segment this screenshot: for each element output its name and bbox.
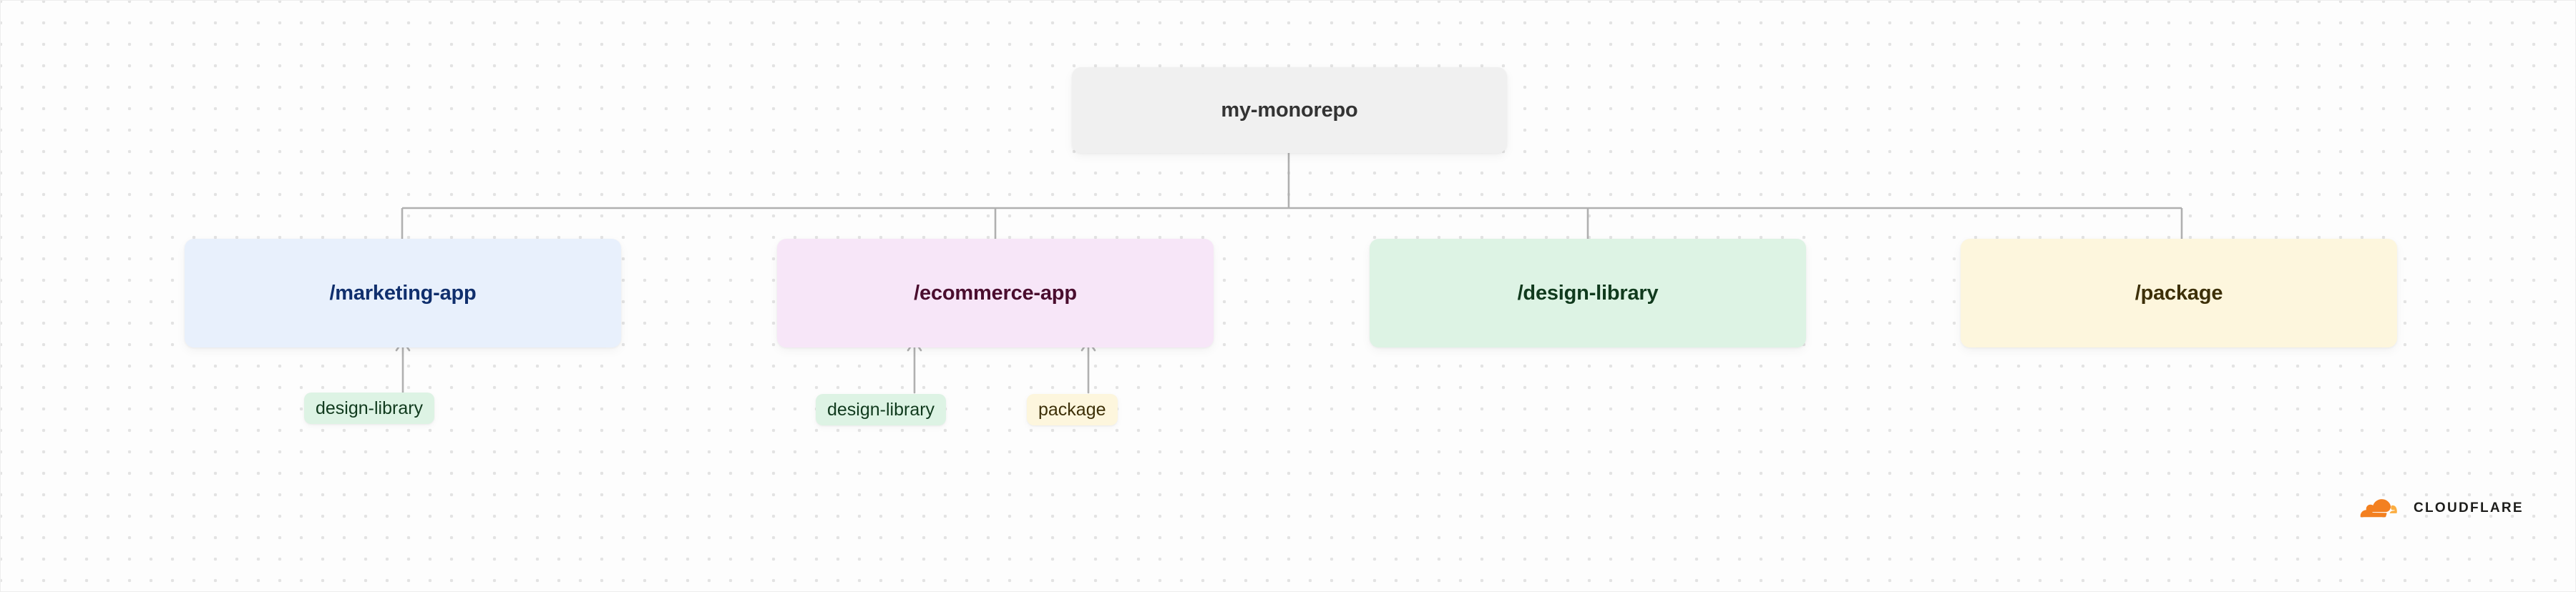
cloudflare-logo: CLOUDFLARE — [2352, 494, 2524, 522]
dependency-pill-label: design-library — [827, 400, 935, 420]
dependency-pill-ecommerce-design-library[interactable]: design-library — [816, 394, 946, 425]
node-label-ecommerce-app: /ecommerce-app — [914, 282, 1077, 305]
node-package[interactable]: /package — [1961, 239, 2397, 347]
node-marketing-app[interactable]: /marketing-app — [185, 239, 621, 347]
dependency-pill-label: design-library — [316, 398, 423, 419]
node-label-design-library: /design-library — [1518, 282, 1659, 305]
dependency-pill-label: package — [1038, 400, 1106, 420]
node-my-monorepo[interactable]: my-monorepo — [1072, 67, 1507, 153]
node-label-marketing-app: /marketing-app — [329, 282, 476, 305]
node-label-my-monorepo: my-monorepo — [1221, 99, 1357, 122]
cloudflare-wordmark: CLOUDFLARE — [2414, 500, 2524, 516]
node-design-library[interactable]: /design-library — [1370, 239, 1806, 347]
dependency-pill-ecommerce-package[interactable]: package — [1027, 394, 1118, 425]
cloudflare-cloud-icon — [2352, 494, 2406, 522]
diagram-canvas: my-monorepo /marketing-app /ecommerce-ap… — [0, 0, 2576, 592]
node-label-package: /package — [2135, 282, 2223, 305]
dependency-pill-marketing-design-library[interactable]: design-library — [304, 393, 434, 424]
node-ecommerce-app[interactable]: /ecommerce-app — [777, 239, 1214, 347]
